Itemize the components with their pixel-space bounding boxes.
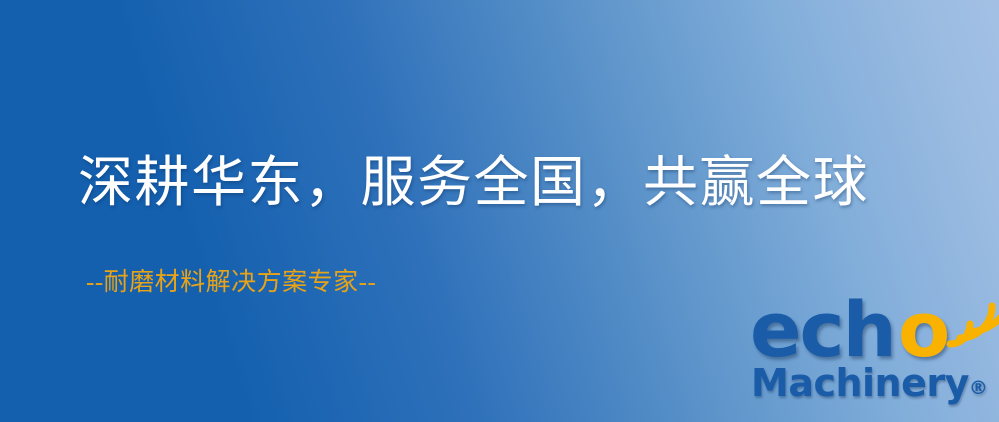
echo-signal-wave-icon — [944, 294, 999, 352]
logo-brand-text: ech — [750, 292, 895, 368]
echo-machinery-logo: ech o Machinery® — [748, 298, 994, 416]
banner-headline: 深耕华东，服务全国，共赢全球 — [78, 152, 869, 214]
promotional-banner: 深耕华东，服务全国，共赢全球 --耐磨材料解决方案专家-- ech o Mach… — [0, 0, 999, 422]
logo-tagline: Machinery® — [751, 364, 988, 402]
registered-trademark-icon: ® — [969, 377, 988, 399]
banner-subtitle: --耐磨材料解决方案专家-- — [86, 268, 376, 298]
logo-tagline-text: Machinery — [751, 361, 969, 405]
logo-brand-o-letter: o — [898, 292, 950, 368]
